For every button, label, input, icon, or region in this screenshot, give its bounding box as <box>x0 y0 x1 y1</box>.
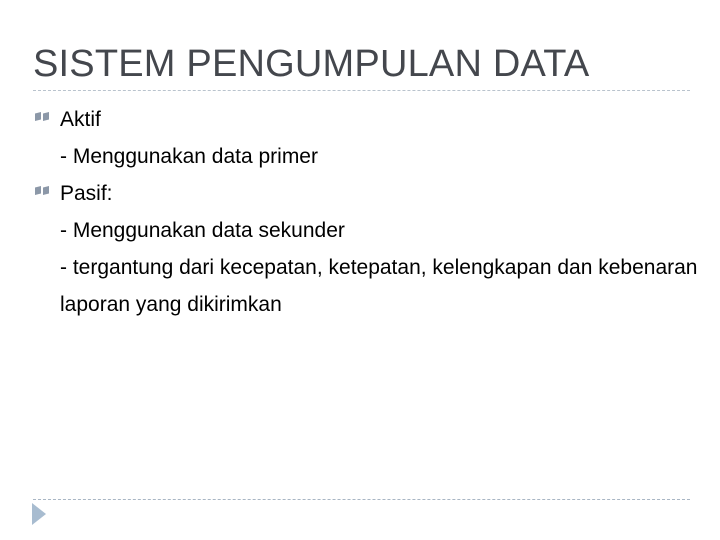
bullet-item: Pasif: <box>33 175 698 212</box>
wingdings-double-quad-bullet-icon <box>35 112 51 121</box>
play-triangle-right-icon[interactable] <box>31 503 49 525</box>
wingdings-double-quad-bullet-icon <box>35 186 51 195</box>
bullet-item-label: Aktif <box>60 108 101 131</box>
title-divider <box>33 90 690 91</box>
sub-item-label: - Menggunakan data primer <box>60 145 318 168</box>
bullet-item: Aktif <box>33 101 698 138</box>
slide-body: Aktif - Menggunakan data primer Pasif: -… <box>33 101 698 323</box>
sub-item-label: - tergantung dari kecepatan, ketepatan, … <box>60 256 697 316</box>
slide: SISTEM PENGUMPULAN DATA Aktif - Mengguna… <box>0 0 720 540</box>
footer-divider <box>33 499 690 500</box>
sub-item-label: - Menggunakan data sekunder <box>60 219 345 242</box>
slide-title-block: SISTEM PENGUMPULAN DATA <box>33 42 693 88</box>
sub-item: - Menggunakan data primer <box>33 138 698 175</box>
page-title: SISTEM PENGUMPULAN DATA <box>33 42 693 86</box>
sub-item: - Menggunakan data sekunder <box>33 212 698 249</box>
sub-item: - tergantung dari kecepatan, ketepatan, … <box>33 249 698 323</box>
bullet-item-label: Pasif: <box>60 182 113 205</box>
